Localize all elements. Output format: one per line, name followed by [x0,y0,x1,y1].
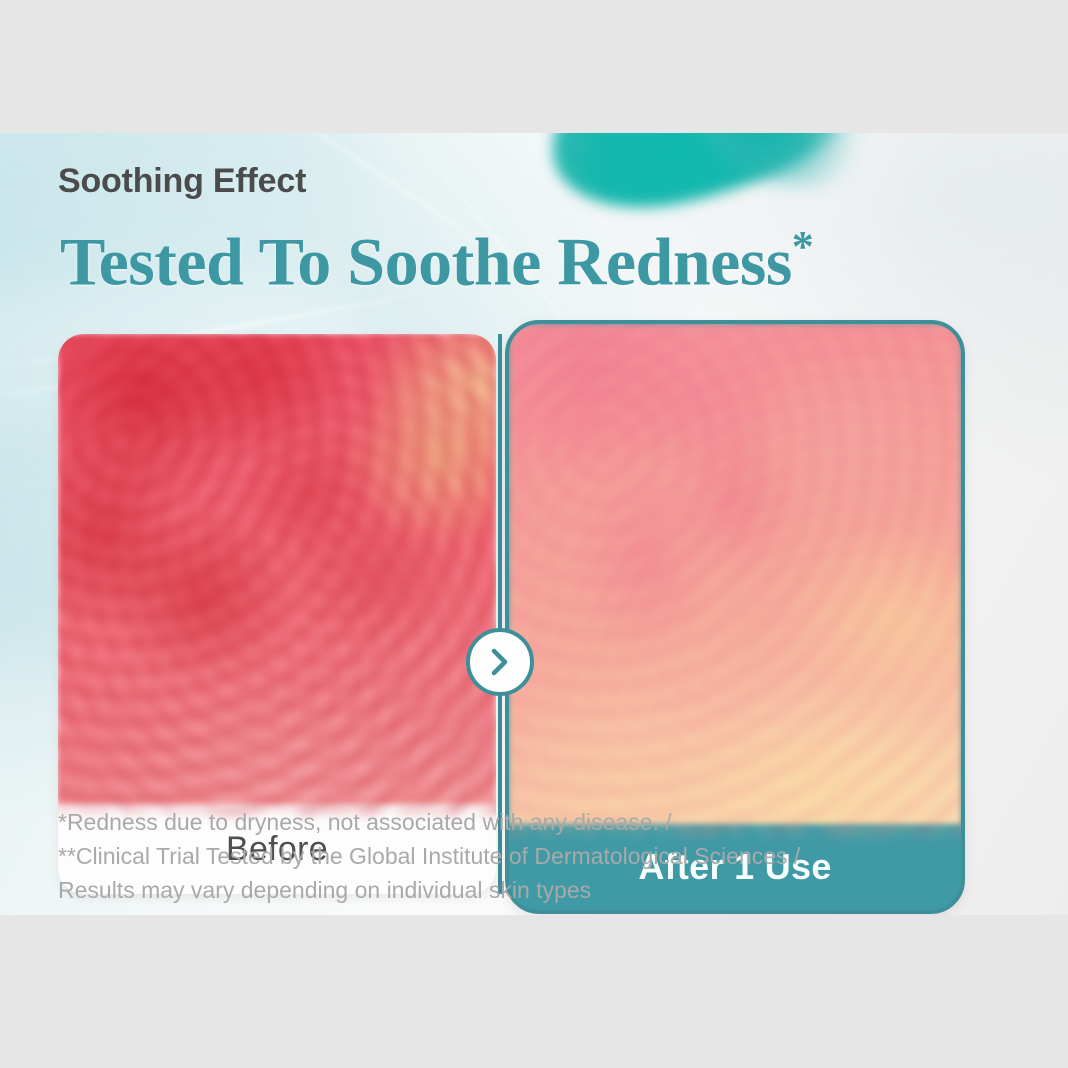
comparison-arrow-badge[interactable] [466,628,534,696]
footnote-block: *Redness due to dryness, not associated … [58,805,958,907]
advertisement-creative: Soothing Effect Tested To Soothe Redness… [0,0,1068,1068]
chevron-right-icon [487,647,513,677]
footnote-line-2: **Clinical Trial Tested by the Global In… [58,839,958,873]
footnote-line-3: Results may vary depending on individual… [58,873,958,907]
footnote-line-1: *Redness due to dryness, not associated … [58,805,958,839]
before-after-comparison: Before After 1 Use [0,133,1068,915]
before-skin-image [58,334,496,804]
skin-texture-overlay [505,320,965,834]
after-skin-image [509,324,961,824]
skin-texture-overlay [58,334,496,814]
creative-band: Soothing Effect Tested To Soothe Redness… [0,133,1068,915]
